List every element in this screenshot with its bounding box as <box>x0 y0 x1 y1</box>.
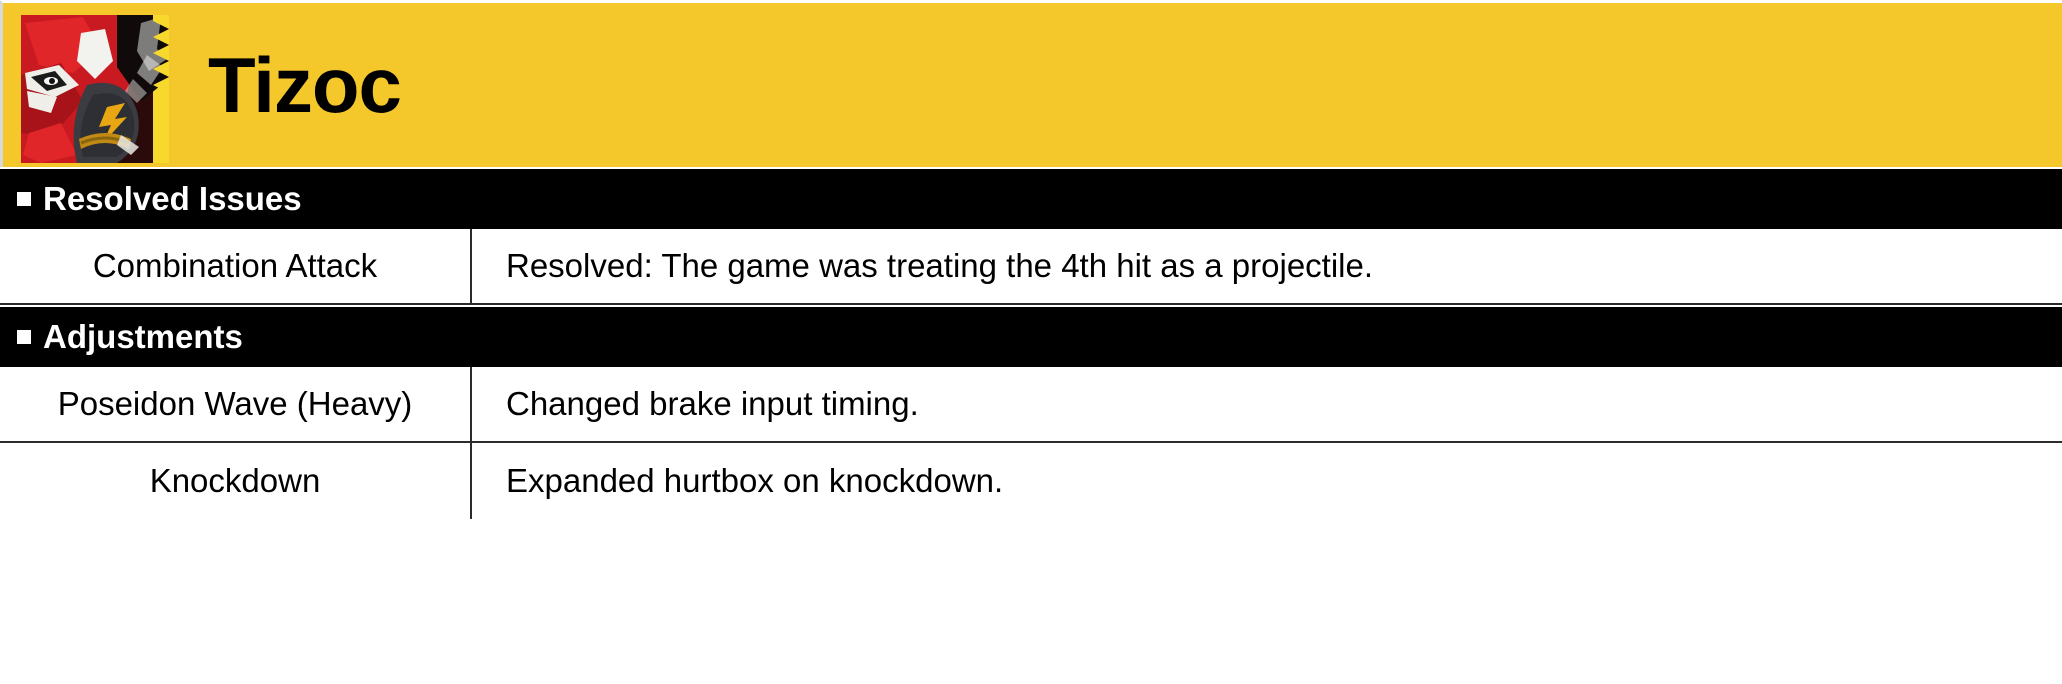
row-description: Resolved: The game was treating the 4th … <box>472 229 2062 303</box>
section-title: Adjustments <box>43 318 243 356</box>
row-move-name: Combination Attack <box>0 229 472 303</box>
table-row: Combination Attack Resolved: The game wa… <box>0 229 2062 305</box>
section-rows-resolved-issues: Combination Attack Resolved: The game wa… <box>0 229 2062 305</box>
character-header: Tizoc <box>0 0 2062 167</box>
section-rows-adjustments: Poseidon Wave (Heavy) Changed brake inpu… <box>0 367 2062 519</box>
section-title: Resolved Issues <box>43 180 302 218</box>
table-row: Poseidon Wave (Heavy) Changed brake inpu… <box>0 367 2062 443</box>
row-move-name: Knockdown <box>0 443 472 519</box>
character-name-title: Tizoc <box>208 46 401 124</box>
row-move-name: Poseidon Wave (Heavy) <box>0 367 472 441</box>
table-row: Knockdown Expanded hurtbox on knockdown. <box>0 443 2062 519</box>
patch-notes-page: Tizoc Resolved Issues Combination Attack… <box>0 0 2062 684</box>
section-header-adjustments: Adjustments <box>0 305 2062 367</box>
character-portrait-icon <box>21 15 169 163</box>
square-bullet-icon <box>17 192 31 206</box>
square-bullet-icon <box>17 330 31 344</box>
row-description: Expanded hurtbox on knockdown. <box>472 443 2062 519</box>
section-header-resolved-issues: Resolved Issues <box>0 167 2062 229</box>
row-description: Changed brake input timing. <box>472 367 2062 441</box>
